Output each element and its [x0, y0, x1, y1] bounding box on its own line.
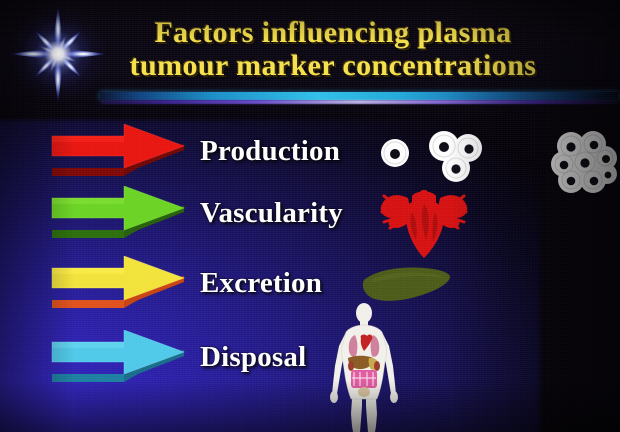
heart-illustration — [372, 182, 476, 269]
divider-bar-primary — [100, 92, 618, 100]
title-line-1: Factors influencing plasma — [78, 16, 588, 49]
green-arrow-icon — [46, 186, 186, 240]
red-arrow-icon — [46, 124, 186, 178]
cyan-arrow-icon — [46, 330, 186, 384]
row-disposal: Disposal — [46, 328, 306, 386]
yellow-arrow-icon — [46, 256, 186, 310]
human-body-illustration — [325, 302, 403, 432]
single-cell-illustration — [378, 136, 412, 175]
page-title: Factors influencing plasma tumour marker… — [78, 16, 588, 82]
cell-cluster-illustration — [549, 130, 617, 201]
cell-trio-illustration — [428, 130, 484, 189]
divider-bar-secondary — [102, 100, 615, 104]
row-label-production: Production — [200, 136, 340, 166]
row-excretion: Excretion — [46, 254, 322, 312]
row-label-vascularity: Vascularity — [200, 198, 343, 228]
title-line-2: tumour marker concentrations — [78, 49, 588, 82]
slide-canvas: Factors influencing plasma tumour marker… — [0, 0, 620, 432]
row-label-excretion: Excretion — [200, 268, 322, 298]
row-production: Production — [46, 122, 340, 180]
divider — [100, 90, 618, 106]
row-vascularity: Vascularity — [46, 184, 343, 242]
row-label-disposal: Disposal — [200, 342, 306, 372]
